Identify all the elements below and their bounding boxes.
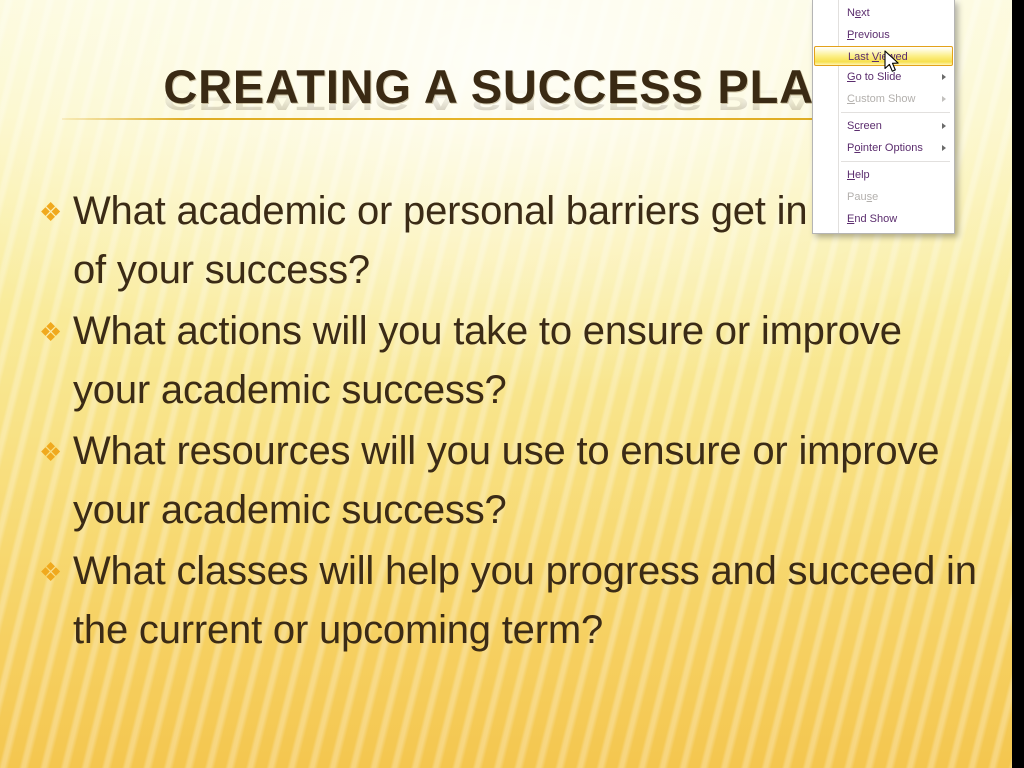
bullet-diamond-icon: ❖: [36, 182, 73, 242]
menu-separator: [841, 112, 950, 113]
menu-item-label: Pause: [847, 186, 878, 208]
menu-item-label: Previous: [847, 24, 890, 46]
submenu-arrow-icon: [942, 74, 946, 80]
menu-item-label: Last Viewed: [848, 47, 908, 67]
menu-item-go-to-slide[interactable]: Go to Slide: [813, 66, 954, 88]
screen: Creating a Success Plan Creating a Succe…: [0, 0, 1024, 768]
menu-separator: [841, 161, 950, 162]
bullet-diamond-icon: ❖: [36, 542, 73, 602]
list-item-text: What classes will help you progress and …: [73, 542, 988, 660]
menu-item-label: Help: [847, 164, 870, 186]
menu-item-end-show[interactable]: End Show: [813, 208, 954, 230]
slide-body: ❖ What academic or personal barriers get…: [36, 182, 988, 662]
list-item: ❖ What actions will you take to ensure o…: [36, 302, 988, 420]
menu-item-next[interactable]: Next: [813, 2, 954, 24]
menu-item-label: End Show: [847, 208, 897, 230]
menu-item-custom-show: Custom Show: [813, 88, 954, 110]
menu-item-screen[interactable]: Screen: [813, 115, 954, 137]
submenu-arrow-icon: [942, 123, 946, 129]
letterbox-bar-right: [1012, 0, 1024, 768]
menu-item-label: Next: [847, 2, 870, 24]
menu-item-label: Pointer Options: [847, 137, 923, 159]
bullet-diamond-icon: ❖: [36, 422, 73, 482]
list-item-text: What actions will you take to ensure or …: [73, 302, 988, 420]
menu-item-help[interactable]: Help: [813, 164, 954, 186]
menu-item-label: Custom Show: [847, 88, 915, 110]
menu-item-list: NextPreviousLast ViewedGo to SlideCustom…: [813, 2, 954, 230]
menu-item-label: Screen: [847, 115, 882, 137]
menu-item-last-viewed[interactable]: Last Viewed: [814, 46, 953, 66]
list-item: ❖ What resources will you use to ensure …: [36, 422, 988, 540]
list-item: ❖ What classes will help you progress an…: [36, 542, 988, 660]
submenu-arrow-icon: [942, 145, 946, 151]
list-item-text: What resources will you use to ensure or…: [73, 422, 988, 540]
menu-item-label: Go to Slide: [847, 66, 901, 88]
submenu-arrow-icon: [942, 96, 946, 102]
menu-item-pointer-options[interactable]: Pointer Options: [813, 137, 954, 159]
bullet-diamond-icon: ❖: [36, 302, 73, 362]
menu-item-pause: Pause: [813, 186, 954, 208]
menu-item-previous[interactable]: Previous: [813, 24, 954, 46]
slideshow-context-menu[interactable]: NextPreviousLast ViewedGo to SlideCustom…: [812, 0, 955, 234]
